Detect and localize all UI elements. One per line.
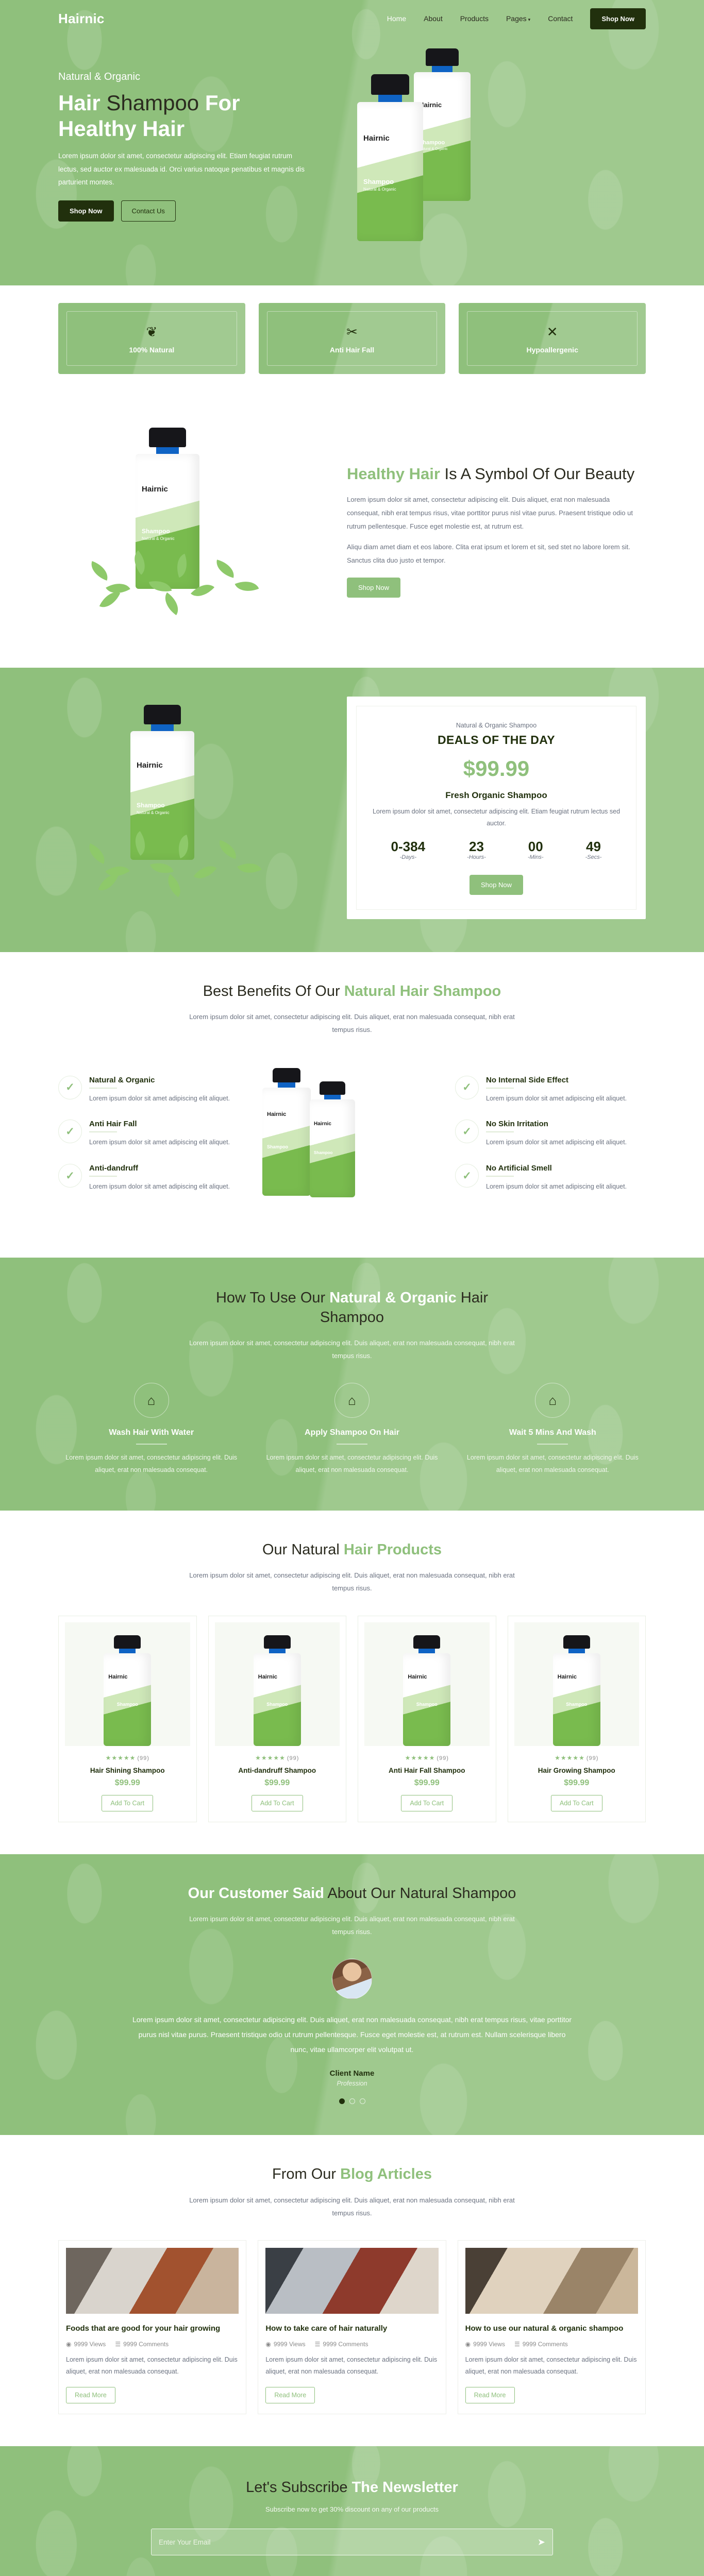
add-to-cart-button[interactable]: Add To Cart — [551, 1795, 602, 1811]
benefit-title: No Skin Irritation — [486, 1120, 627, 1128]
newsletter-title: Let's Subscribe The Newsletter — [58, 2479, 646, 2496]
comment-icon: ☰ — [115, 2341, 121, 2348]
review-count: (99) — [437, 1755, 449, 1761]
hero-shop-now-button[interactable]: Shop Now — [58, 200, 114, 222]
benefit-text: Lorem ipsum dolor sit amet adipiscing el… — [89, 1093, 230, 1105]
benefit-item: ✓ No Artificial Smell Lorem ipsum dolor … — [455, 1164, 646, 1193]
blog-comments-text: 9999 Comments — [123, 2341, 169, 2348]
check-icon: ✓ — [58, 1164, 82, 1188]
nav-item-pages[interactable]: Pages▾ — [506, 14, 530, 23]
leaf-icon: ❦ — [72, 325, 231, 338]
bottle-product-label-6: Shampoo — [314, 1150, 351, 1155]
bottle-sub-label: Natural & Organic — [419, 147, 465, 151]
email-input[interactable] — [159, 2538, 538, 2546]
countdown-days: 0-384 -Days- — [391, 839, 426, 860]
testimonial-client-role: Profession — [58, 2080, 646, 2087]
howto-title: How To Use Our Natural & Organic Hair Sh… — [187, 1289, 517, 1327]
blog-excerpt: Lorem ipsum dolor sit amet, consectetur … — [465, 2354, 638, 2378]
divider — [537, 1444, 568, 1445]
blog-excerpt: Lorem ipsum dolor sit amet, consectetur … — [265, 2354, 438, 2378]
chevron-down-icon: ▾ — [528, 17, 531, 22]
nav-item-about[interactable]: About — [424, 14, 443, 23]
countdown-mins-label: -Mins- — [528, 854, 544, 860]
hero-title-part2: Shampoo — [106, 91, 199, 115]
howto-step-title: Wait 5 Mins And Wash — [460, 1428, 646, 1437]
howto-step-text: Lorem ipsum dolor sit amet, consectetur … — [460, 1452, 646, 1477]
blog-post-title[interactable]: How to take care of hair naturally — [265, 2323, 438, 2334]
blog-card[interactable]: How to use our natural & organic shampoo… — [458, 2240, 646, 2414]
testimonial-client-name: Client Name — [58, 2069, 646, 2078]
howto-step-title: Apply Shampoo On Hair — [259, 1428, 445, 1437]
product-price: $99.99 — [65, 1778, 190, 1788]
deals-eyebrow: Natural & Organic Shampoo — [370, 722, 623, 729]
blog-comments: ☰9999 Comments — [514, 2341, 568, 2348]
newsletter-title-plain: Let's Subscribe — [246, 2479, 347, 2496]
hero-copy: Natural & Organic Hair Shampoo For Healt… — [58, 71, 347, 222]
products-subtitle: Lorem ipsum dolor sit amet, consectetur … — [187, 1569, 517, 1595]
hero-product-image: Hairnic Shampoo Natural & Organic Hairni… — [347, 59, 646, 234]
benefit-title: Natural & Organic — [89, 1076, 230, 1084]
feature-card-anti-hair-fall[interactable]: ✂ Anti Hair Fall — [259, 303, 446, 374]
benefit-title: No Internal Side Effect — [486, 1076, 627, 1084]
product-price: $99.99 — [514, 1778, 640, 1788]
divider — [486, 1088, 514, 1089]
hero-section: Hairnic Home About Products Pages▾ Conta… — [0, 0, 704, 285]
blog-section: From Our Blog Articles Lorem ipsum dolor… — [0, 2135, 704, 2446]
benefit-text: Lorem ipsum dolor sit amet adipiscing el… — [89, 1137, 230, 1148]
product-card[interactable]: Hairnic Shampoo ★★★★★(99) Anti Hair Fall… — [358, 1616, 496, 1822]
stars-glyph: ★★★★★ — [255, 1754, 286, 1761]
testimonial-title-plain: About Our Natural Shampoo — [327, 1885, 516, 1902]
about-section: Hairnic Shampoo Natural & Organic — [0, 399, 704, 668]
divider — [486, 1131, 514, 1132]
blog-views: ◉9999 Views — [465, 2341, 505, 2348]
product-name: Anti-dandruff Shampoo — [215, 1767, 340, 1774]
bottle-brand-label-5: Hairnic — [267, 1111, 306, 1117]
benefit-item: ✓ Natural & Organic Lorem ipsum dolor si… — [58, 1076, 249, 1105]
countdown-days-value: 0-384 — [391, 839, 426, 854]
hero-bottle-front: Hairnic Shampoo Natural & Organic — [357, 74, 423, 241]
blog-views: ◉9999 Views — [66, 2341, 106, 2348]
blog-title-plain: From Our — [272, 2166, 336, 2182]
navbar: Hairnic Home About Products Pages▾ Conta… — [58, 0, 646, 37]
deals-price: $99.99 — [370, 756, 623, 781]
nav-item-pages-label: Pages — [506, 14, 527, 23]
bottle-sub-label-2: Natural & Organic — [363, 187, 417, 192]
blog-post-title[interactable]: How to use our natural & organic shampoo — [465, 2323, 638, 2334]
hero-title-part4: Healthy Hair — [58, 116, 185, 141]
hero-title: Hair Shampoo For Healthy Hair — [58, 90, 347, 141]
bottle-product-label-p1: Shampoo — [108, 1702, 146, 1707]
product-image: Hairnic Shampoo — [215, 1622, 340, 1746]
product-rating: ★★★★★(99) — [65, 1754, 190, 1761]
benefit-title: Anti-dandruff — [89, 1164, 230, 1173]
check-icon: ✓ — [58, 1120, 82, 1143]
about-product-image: Hairnic Shampoo Natural & Organic — [58, 422, 326, 639]
deals-product-image: Hairnic Shampoo Natural & Organic — [58, 705, 326, 911]
stars-glyph: ★★★★★ — [106, 1754, 136, 1761]
countdown-days-label: -Days- — [391, 854, 426, 860]
bottle-product-label-4: Shampoo — [137, 802, 188, 809]
blog-comments: ☰9999 Comments — [315, 2341, 368, 2348]
blog-post-title[interactable]: Foods that are good for your hair growin… — [66, 2323, 239, 2334]
benefit-text: Lorem ipsum dolor sit amet adipiscing el… — [89, 1181, 230, 1193]
read-more-button[interactable]: Read More — [66, 2387, 115, 2403]
bottle-brand-label-6: Hairnic — [314, 1121, 351, 1127]
howto-step-3: ⌂ Wait 5 Mins And Wash Lorem ipsum dolor… — [460, 1383, 646, 1477]
bottle-sub-label-4: Natural & Organic — [137, 810, 188, 815]
about-shop-now-button[interactable]: Shop Now — [347, 578, 400, 598]
nav-item-products[interactable]: Products — [460, 14, 489, 23]
eye-icon: ◉ — [66, 2341, 71, 2348]
countdown-mins: 00 -Mins- — [528, 839, 544, 860]
blog-subtitle: Lorem ipsum dolor sit amet, consectetur … — [187, 2194, 517, 2220]
feature-card-hypoallergenic[interactable]: ✕ Hypoallergenic — [459, 303, 646, 374]
benefit-item: ✓ No Internal Side Effect Lorem ipsum do… — [455, 1076, 646, 1105]
bottle-product-label: Shampoo — [419, 140, 465, 146]
countdown-hours: 23 -Hours- — [467, 839, 486, 860]
bottle-product-label-5: Shampoo — [267, 1144, 306, 1149]
scissors-icon: ✂ — [273, 325, 432, 338]
product-rating: ★★★★★(99) — [215, 1754, 340, 1761]
howto-step-title: Wash Hair With Water — [58, 1428, 244, 1437]
product-price: $99.99 — [364, 1778, 490, 1788]
check-icon: ✓ — [455, 1120, 479, 1143]
products-section: Our Natural Hair Products Lorem ipsum do… — [0, 1511, 704, 1854]
benefits-product-image: Hairnic Shampoo Hairnic Shampoo — [258, 1057, 446, 1227]
divider — [89, 1088, 117, 1089]
howto-title-plain1: How To Use Our — [216, 1290, 325, 1306]
product-card[interactable]: Hairnic Shampoo ★★★★★(99) Hair Growing S… — [508, 1616, 646, 1822]
review-count: (99) — [137, 1755, 149, 1761]
bottle-product-label-3: Shampoo — [142, 528, 193, 535]
comment-icon: ☰ — [315, 2341, 321, 2348]
review-count: (99) — [287, 1755, 299, 1761]
benefit-text: Lorem ipsum dolor sit amet adipiscing el… — [486, 1137, 627, 1148]
nav-item-contact[interactable]: Contact — [548, 14, 573, 23]
home-icon: ⌂ — [134, 1383, 169, 1418]
blog-image — [265, 2248, 438, 2314]
deals-card: Natural & Organic Shampoo DEALS OF THE D… — [347, 697, 646, 919]
benefit-text: Lorem ipsum dolor sit amet adipiscing el… — [486, 1181, 627, 1193]
add-to-cart-button[interactable]: Add To Cart — [252, 1795, 303, 1811]
blog-image — [465, 2248, 638, 2314]
testimonial-title: Our Customer Said About Our Natural Sham… — [187, 1884, 517, 1903]
products-title-plain: Our Natural — [262, 1541, 340, 1558]
hero-paragraph: Lorem ipsum dolor sit amet, consectetur … — [58, 149, 306, 189]
countdown-hours-label: -Hours- — [467, 854, 486, 860]
product-card[interactable]: Hairnic Shampoo ★★★★★(99) Anti-dandruff … — [208, 1616, 347, 1822]
eye-icon: ◉ — [465, 2341, 471, 2348]
blog-excerpt: Lorem ipsum dolor sit amet, consectetur … — [66, 2354, 239, 2378]
home-icon: ⌂ — [334, 1383, 370, 1418]
bottle-brand-label-p3: Hairnic — [408, 1674, 446, 1680]
benefit-title: No Artificial Smell — [486, 1164, 627, 1173]
bottle-sub-label-3: Natural & Organic — [142, 536, 193, 541]
about-bottle: Hairnic Shampoo Natural & Organic — [136, 428, 199, 589]
feature-label: 100% Natural — [72, 346, 231, 354]
feature-label: Hypoallergenic — [473, 346, 632, 354]
benefits-title-green: Natural Hair Shampoo — [344, 983, 501, 999]
blog-title: From Our Blog Articles — [187, 2165, 517, 2184]
check-icon: ✓ — [455, 1164, 479, 1188]
testimonial-title-white: Our Customer Said — [188, 1885, 324, 1902]
avatar — [332, 1959, 372, 1999]
carousel-dots — [58, 2098, 646, 2104]
stars-glyph: ★★★★★ — [405, 1754, 435, 1761]
blog-comments-text: 9999 Comments — [323, 2341, 368, 2348]
blog-meta: ◉9999 Views ☰9999 Comments — [465, 2341, 638, 2348]
about-paragraph-1: Lorem ipsum dolor sit amet, consectetur … — [347, 493, 639, 533]
nav-links: Home About Products Pages▾ Contact Shop … — [387, 8, 646, 29]
blog-meta: ◉9999 Views ☰9999 Comments — [66, 2341, 239, 2348]
testimonial-section: Our Customer Said About Our Natural Sham… — [0, 1854, 704, 2136]
newsletter-subtitle: Subscribe now to get 30% discount on any… — [58, 2505, 646, 2513]
about-paragraph-2: Aliqu diam amet diam et eos labore. Clit… — [347, 540, 639, 567]
deals-shop-now-button[interactable]: Shop Now — [470, 875, 523, 895]
send-icon[interactable]: ➤ — [538, 2537, 545, 2548]
howto-step-text: Lorem ipsum dolor sit amet, consectetur … — [259, 1452, 445, 1477]
carousel-dot-1[interactable] — [339, 2098, 345, 2104]
benefits-bottle-left: Hairnic Shampoo — [262, 1068, 311, 1196]
hero-contact-us-button[interactable]: Contact Us — [121, 200, 176, 222]
blog-comments: ☰9999 Comments — [115, 2341, 169, 2348]
deals-bottle: Hairnic Shampoo Natural & Organic — [130, 705, 194, 860]
benefits-subtitle: Lorem ipsum dolor sit amet, consectetur … — [187, 1010, 517, 1037]
deals-section: Hairnic Shampoo Natural & Organic — [0, 668, 704, 952]
blog-views-text: 9999 Views — [74, 2341, 106, 2348]
check-icon: ✓ — [455, 1076, 479, 1099]
review-count: (99) — [586, 1755, 599, 1761]
blog-views: ◉9999 Views — [265, 2341, 305, 2348]
product-card[interactable]: Hairnic Shampoo ★★★★★(99) Hair Shining S… — [58, 1616, 197, 1822]
bottle-brand-label-p1: Hairnic — [108, 1674, 146, 1680]
blog-title-green: Blog Articles — [340, 2166, 432, 2182]
blog-views-text: 9999 Views — [473, 2341, 505, 2348]
countdown-secs-label: -Secs- — [585, 854, 602, 860]
read-more-button[interactable]: Read More — [465, 2387, 515, 2403]
features-section: ❦ 100% Natural ✂ Anti Hair Fall ✕ Hypoal… — [0, 285, 704, 399]
deals-description: Lorem ipsum dolor sit amet, consectetur … — [370, 806, 623, 829]
divider — [486, 1176, 514, 1177]
product-name: Hair Shining Shampoo — [65, 1767, 190, 1774]
howto-step-1: ⌂ Wash Hair With Water Lorem ipsum dolor… — [58, 1383, 244, 1477]
howto-section: How To Use Our Natural & Organic Hair Sh… — [0, 1258, 704, 1510]
about-title-green: Healthy Hair — [347, 465, 440, 483]
blog-meta: ◉9999 Views ☰9999 Comments — [265, 2341, 438, 2348]
hero-title-part3: For — [205, 91, 240, 115]
product-price: $99.99 — [215, 1778, 340, 1788]
hero-title-part1: Hair — [58, 91, 100, 115]
carousel-dot-3[interactable] — [360, 2098, 365, 2104]
benefit-item: ✓ No Skin Irritation Lorem ipsum dolor s… — [455, 1120, 646, 1148]
site-logo[interactable]: Hairnic — [58, 11, 105, 27]
bottle-product-label-p4: Shampoo — [558, 1702, 596, 1707]
products-title: Our Natural Hair Products — [187, 1540, 517, 1560]
howto-subtitle: Lorem ipsum dolor sit amet, consectetur … — [187, 1336, 517, 1363]
bottle-brand-label-4: Hairnic — [137, 761, 188, 770]
read-more-button[interactable]: Read More — [265, 2387, 315, 2403]
countdown-secs: 49 -Secs- — [585, 839, 602, 860]
testimonial-quote: Lorem ipsum dolor sit amet, consectetur … — [130, 2012, 574, 2057]
add-to-cart-button[interactable]: Add To Cart — [102, 1795, 153, 1811]
eye-icon: ◉ — [265, 2341, 271, 2348]
about-title: Healthy Hair Is A Symbol Of Our Beauty — [347, 464, 639, 484]
bottle-brand-label-p4: Hairnic — [558, 1674, 596, 1680]
cross-icon: ✕ — [473, 325, 632, 338]
product-bottle: Hairnic Shampoo — [553, 1635, 600, 1746]
benefits-title-plain: Best Benefits Of Our — [203, 983, 340, 999]
product-rating: ★★★★★(99) — [514, 1754, 640, 1761]
deals-product-name: Fresh Organic Shampoo — [370, 790, 623, 801]
newsletter-section: Let's Subscribe The Newsletter Subscribe… — [0, 2446, 704, 2576]
stars-glyph: ★★★★★ — [555, 1754, 585, 1761]
howto-step-2: ⌂ Apply Shampoo On Hair Lorem ipsum dolo… — [259, 1383, 445, 1477]
deals-title: DEALS OF THE DAY — [370, 733, 623, 747]
product-image: Hairnic Shampoo — [65, 1622, 190, 1746]
benefits-bottle-right: Hairnic Shampoo — [310, 1081, 355, 1197]
divider — [89, 1176, 117, 1177]
bottle-brand-label-p2: Hairnic — [258, 1674, 296, 1680]
blog-views-text: 9999 Views — [274, 2341, 306, 2348]
blog-card[interactable]: Foods that are good for your hair growin… — [58, 2240, 246, 2414]
bottle-product-label-p2: Shampoo — [258, 1702, 296, 1707]
products-title-green: Hair Products — [344, 1541, 442, 1558]
about-title-rest: Is A Symbol Of Our Beauty — [445, 465, 635, 483]
product-name: Anti Hair Fall Shampoo — [364, 1767, 490, 1774]
product-bottle: Hairnic Shampoo — [104, 1635, 151, 1746]
blog-card[interactable]: How to take care of hair naturally ◉9999… — [258, 2240, 446, 2414]
product-image: Hairnic Shampoo — [364, 1622, 490, 1746]
shop-now-button[interactable]: Shop Now — [590, 8, 646, 29]
testimonial-subtitle: Lorem ipsum dolor sit amet, consectetur … — [187, 1912, 517, 1939]
product-rating: ★★★★★(99) — [364, 1754, 490, 1761]
countdown-hours-value: 23 — [467, 839, 486, 854]
divider — [136, 1444, 167, 1445]
comment-icon: ☰ — [514, 2341, 520, 2348]
check-icon: ✓ — [58, 1076, 82, 1099]
benefits-right-column: ✓ No Internal Side Effect Lorem ipsum do… — [455, 1076, 646, 1209]
feature-card-natural[interactable]: ❦ 100% Natural — [58, 303, 245, 374]
feature-label: Anti Hair Fall — [273, 346, 432, 354]
product-bottle: Hairnic Shampoo — [403, 1635, 450, 1746]
benefit-item: ✓ Anti Hair Fall Lorem ipsum dolor sit a… — [58, 1120, 249, 1148]
countdown-mins-value: 00 — [528, 839, 544, 854]
blog-comments-text: 9999 Comments — [523, 2341, 568, 2348]
product-name: Hair Growing Shampoo — [514, 1767, 640, 1774]
benefits-title: Best Benefits Of Our Natural Hair Shampo… — [187, 982, 517, 1001]
benefit-text: Lorem ipsum dolor sit amet adipiscing el… — [486, 1093, 627, 1105]
blog-image — [66, 2248, 239, 2314]
bottle-product-label-p3: Shampoo — [408, 1702, 446, 1707]
countdown-timer: 0-384 -Days- 23 -Hours- 00 -Mins- 49 — [370, 839, 623, 860]
benefit-item: ✓ Anti-dandruff Lorem ipsum dolor sit am… — [58, 1164, 249, 1193]
carousel-dot-2[interactable] — [349, 2098, 355, 2104]
divider — [89, 1131, 117, 1132]
benefits-section: Best Benefits Of Our Natural Hair Shampo… — [0, 952, 704, 1258]
newsletter-form: ➤ — [151, 2529, 553, 2555]
benefits-left-column: ✓ Natural & Organic Lorem ipsum dolor si… — [58, 1076, 249, 1209]
howto-step-text: Lorem ipsum dolor sit amet, consectetur … — [58, 1452, 244, 1477]
howto-title-white: Natural & Organic — [329, 1290, 457, 1306]
hero-eyebrow: Natural & Organic — [58, 71, 347, 83]
add-to-cart-button[interactable]: Add To Cart — [401, 1795, 452, 1811]
newsletter-title-white: The Newsletter — [352, 2479, 458, 2496]
bottle-product-label-2: Shampoo — [363, 178, 417, 185]
bottle-brand-label: Hairnic — [419, 101, 465, 109]
countdown-secs-value: 49 — [585, 839, 602, 854]
product-image: Hairnic Shampoo — [514, 1622, 640, 1746]
bottle-brand-label-3: Hairnic — [142, 485, 193, 494]
divider — [337, 1444, 367, 1445]
home-icon: ⌂ — [535, 1383, 570, 1418]
benefit-title: Anti Hair Fall — [89, 1120, 230, 1128]
nav-item-home[interactable]: Home — [387, 14, 406, 23]
bottle-brand-label-2: Hairnic — [363, 134, 417, 143]
product-bottle: Hairnic Shampoo — [254, 1635, 301, 1746]
